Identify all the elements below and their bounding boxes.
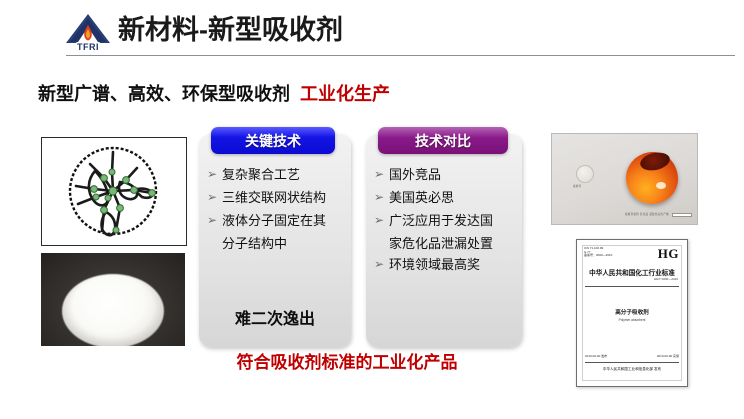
chevron-bullet-icon: ➢ bbox=[374, 187, 389, 208]
page-title: 新材料-新型吸收剂 bbox=[118, 10, 343, 50]
document-code-block: ICS 71.100.99G 77备案号：0000—2010 bbox=[584, 247, 612, 258]
document-publisher: 中华人民共和国工业和信息化部 发布 bbox=[577, 367, 687, 372]
slide-header: TFRI 新材料-新型吸收剂 bbox=[0, 0, 744, 58]
document-date-row: 2010-00-00 发布 2010-00-00 实施 bbox=[585, 354, 679, 358]
list-item-label: 国外竞品 bbox=[389, 164, 441, 185]
chevron-bullet-icon: ➢ bbox=[207, 164, 222, 185]
list-item-label: 广泛应用于发达国 bbox=[389, 210, 493, 231]
white-powder-photo bbox=[41, 253, 185, 346]
document-subject: 高分子吸收剂 bbox=[577, 308, 687, 316]
list-item-label: 三维交联网状结构 bbox=[222, 187, 326, 208]
orange-gel-product-photo: 吸收剂 吸收剂吸附 危化品 凝胶化后的产物 bbox=[551, 133, 698, 225]
scale-bar bbox=[672, 213, 692, 217]
chevron-bullet-icon: ➢ bbox=[374, 210, 389, 231]
subtitle-red-text: 工业化生产 bbox=[300, 84, 390, 104]
chevron-bullet-icon: ➢ bbox=[374, 164, 389, 185]
photo-vignette bbox=[41, 253, 185, 346]
subtitle-line: 新型广谱、高效、环保型吸收剂工业化生产 bbox=[38, 82, 390, 106]
list-item: ➢ 广泛应用于发达国 bbox=[374, 210, 518, 231]
document-national-line: 中华人民共和国化工行业标准 bbox=[577, 267, 687, 277]
list-item-continuation: 家危化品泄漏处置 bbox=[389, 233, 518, 254]
tfri-wordmark: TFRI bbox=[77, 42, 99, 52]
slide-root: TFRI 新材料-新型吸收剂 新型广谱、高效、环保型吸收剂工业化生产 bbox=[0, 0, 744, 419]
gel-highlight bbox=[656, 182, 666, 189]
list-item-label: 复杂聚合工艺 bbox=[222, 164, 300, 185]
tfri-logo: TFRI bbox=[62, 12, 114, 52]
document-effective-date: 2010-00-00 实施 bbox=[657, 354, 679, 358]
chevron-bullet-icon: ➢ bbox=[207, 187, 222, 208]
document-standard-number: HG/T 0000—2010 bbox=[654, 277, 678, 281]
panel-header-key-technology[interactable]: 关键技术 bbox=[211, 127, 335, 154]
molecular-network-diagram bbox=[41, 137, 187, 246]
panel-header-technology-comparison[interactable]: 技术对比 bbox=[378, 127, 508, 154]
chevron-bullet-icon: ➢ bbox=[374, 254, 389, 275]
list-item-label: 环境领域最高奖 bbox=[389, 254, 480, 275]
chevron-bullet-icon: ➢ bbox=[207, 210, 222, 231]
panel-technology-comparison: 技术对比 ➢ 国外竞品 ➢ 美国英必思 ➢ 广泛应用于发达国 家危化品泄漏处置 … bbox=[366, 134, 522, 347]
list-item-label: 液体分子固定在其 bbox=[222, 210, 326, 231]
industry-standard-cover: ICS 71.100.99G 77备案号：0000—2010 HG 中华人民共和… bbox=[576, 239, 688, 387]
header-divider bbox=[66, 55, 735, 56]
document-rule-bottom bbox=[585, 362, 679, 363]
bottom-caption: 符合吸收剂标准的工业化产品 bbox=[202, 348, 492, 373]
document-rule-top bbox=[585, 286, 679, 287]
product-photo-label-left: 吸收剂 bbox=[573, 185, 581, 189]
bullet-list-technology-comparison: ➢ 国外竞品 ➢ 美国英必思 ➢ 广泛应用于发达国 家危化品泄漏处置 ➢ 环境领… bbox=[374, 164, 518, 277]
panel-emphasis-text: 难二次逸出 bbox=[199, 305, 351, 329]
list-item-label: 美国英必思 bbox=[389, 187, 454, 208]
panel-header-label: 关键技术 bbox=[245, 131, 301, 151]
list-item-continuation: 分子结构中 bbox=[222, 233, 347, 254]
reference-sample bbox=[576, 165, 594, 183]
document-emblem: HG bbox=[658, 246, 679, 262]
document-subject-en: Polymer absorbent bbox=[577, 318, 687, 322]
list-item: ➢ 复杂聚合工艺 bbox=[207, 164, 347, 185]
list-item: ➢ 美国英必思 bbox=[374, 187, 518, 208]
panel-key-technology: 关键技术 ➢ 复杂聚合工艺 ➢ 三维交联网状结构 ➢ 液体分子固定在其 分子结构… bbox=[199, 134, 351, 347]
subtitle-black-text: 新型广谱、高效、环保型吸收剂 bbox=[38, 84, 290, 104]
list-item: ➢ 液体分子固定在其 bbox=[207, 210, 347, 231]
product-photo-label-bottom: 吸收剂吸附 危化品 凝胶化后的产物 bbox=[625, 213, 669, 217]
list-item: ➢ 三维交联网状结构 bbox=[207, 187, 347, 208]
bullet-list-key-technology: ➢ 复杂聚合工艺 ➢ 三维交联网状结构 ➢ 液体分子固定在其 分子结构中 bbox=[207, 164, 347, 254]
list-item: ➢ 环境领域最高奖 bbox=[374, 254, 518, 275]
panel-header-label: 技术对比 bbox=[415, 131, 471, 151]
list-item: ➢ 国外竞品 bbox=[374, 164, 518, 185]
document-issue-date: 2010-00-00 发布 bbox=[585, 354, 607, 358]
